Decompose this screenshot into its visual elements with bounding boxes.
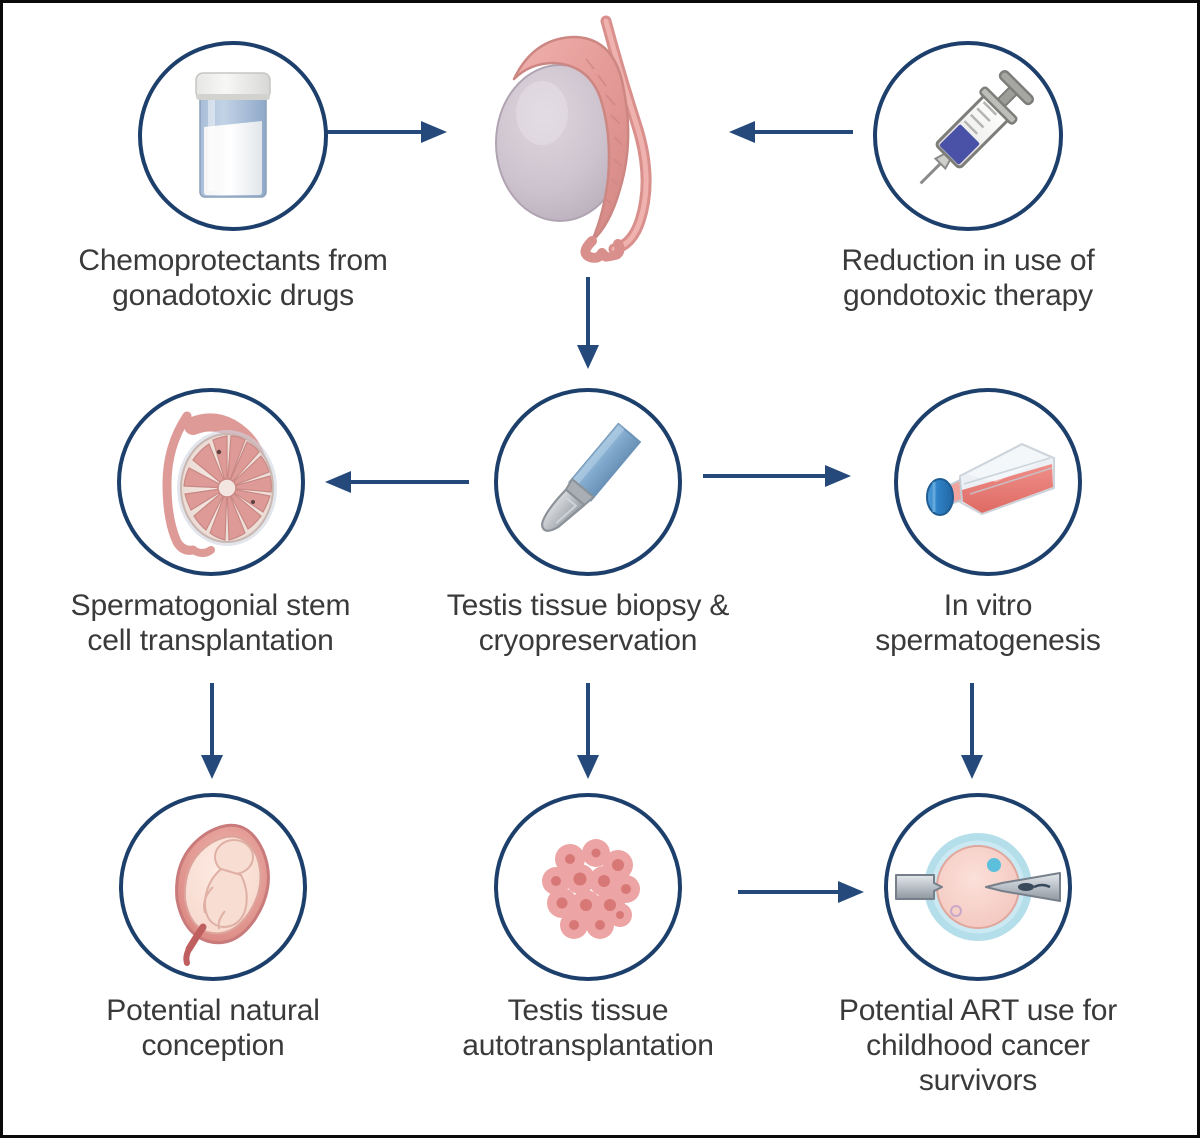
arrow-in-vitro-to-art bbox=[953, 681, 991, 781]
arrow-ssc-to-natural-conception bbox=[193, 681, 231, 781]
node-biopsy-cryo[interactable]: Testis tissue biopsy & cryopreservation bbox=[403, 388, 773, 658]
testis-cross-section-circle bbox=[117, 388, 305, 576]
node-label-art-survivors: Potential ART use for childhood cancer s… bbox=[839, 993, 1117, 1098]
scalpel-circle bbox=[494, 388, 682, 576]
culture-flask-circle bbox=[894, 388, 1082, 576]
tissue-cell-cluster-circle bbox=[494, 793, 682, 981]
fetus-circle bbox=[119, 793, 307, 981]
syringe-icon bbox=[889, 57, 1047, 215]
syringe-circle bbox=[873, 41, 1063, 231]
specimen-container-circle bbox=[138, 41, 328, 231]
node-art-survivors[interactable]: Potential ART use for childhood cancer s… bbox=[793, 793, 1163, 1098]
arrow-biopsy-to-autotransplantation bbox=[569, 681, 607, 781]
icsi-oocyte-icon bbox=[890, 799, 1066, 975]
icsi-oocyte-circle bbox=[884, 793, 1072, 981]
node-natural-conception[interactable]: Potential natural conception bbox=[28, 793, 398, 1063]
scalpel-icon bbox=[508, 402, 668, 562]
node-reduction-gonadotoxic[interactable]: Reduction in use of gondotoxic therapy bbox=[768, 41, 1168, 313]
node-ssc-transplantation[interactable]: Spermatogonial stem cell transplantation bbox=[23, 388, 398, 658]
node-label-chemoprotectants: Chemoprotectants from gonadotoxic drugs bbox=[78, 243, 387, 313]
node-label-reduction-gonadotoxic: Reduction in use of gondotoxic therapy bbox=[841, 243, 1094, 313]
culture-flask-icon bbox=[904, 398, 1072, 566]
specimen-container-icon bbox=[158, 61, 308, 211]
testis-cross-section-icon bbox=[131, 402, 291, 562]
node-autotransplantation[interactable]: Testis tissue autotransplantation bbox=[403, 793, 773, 1063]
testis-anatomy-wrapper bbox=[463, 13, 713, 263]
figure-container: Chemoprotectants from gonadotoxic drugs bbox=[0, 0, 1200, 1138]
fetus-icon bbox=[133, 807, 293, 967]
node-chemoprotectants[interactable]: Chemoprotectants from gonadotoxic drugs bbox=[33, 41, 433, 313]
arrow-testis-to-biopsy bbox=[569, 275, 607, 371]
node-label-autotransplantation: Testis tissue autotransplantation bbox=[462, 993, 713, 1063]
node-label-ssc-transplantation: Spermatogonial stem cell transplantation bbox=[71, 588, 351, 658]
node-testis[interactable] bbox=[463, 13, 713, 275]
tissue-cell-cluster-icon bbox=[508, 807, 668, 967]
testis-anatomy-icon bbox=[468, 13, 708, 263]
node-label-in-vitro-spermatogenesis: In vitro spermatogenesis bbox=[875, 588, 1100, 658]
node-in-vitro-spermatogenesis[interactable]: In vitro spermatogenesis bbox=[803, 388, 1173, 658]
node-label-biopsy-cryo: Testis tissue biopsy & cryopreservation bbox=[447, 588, 729, 658]
node-label-natural-conception: Potential natural conception bbox=[106, 993, 319, 1063]
